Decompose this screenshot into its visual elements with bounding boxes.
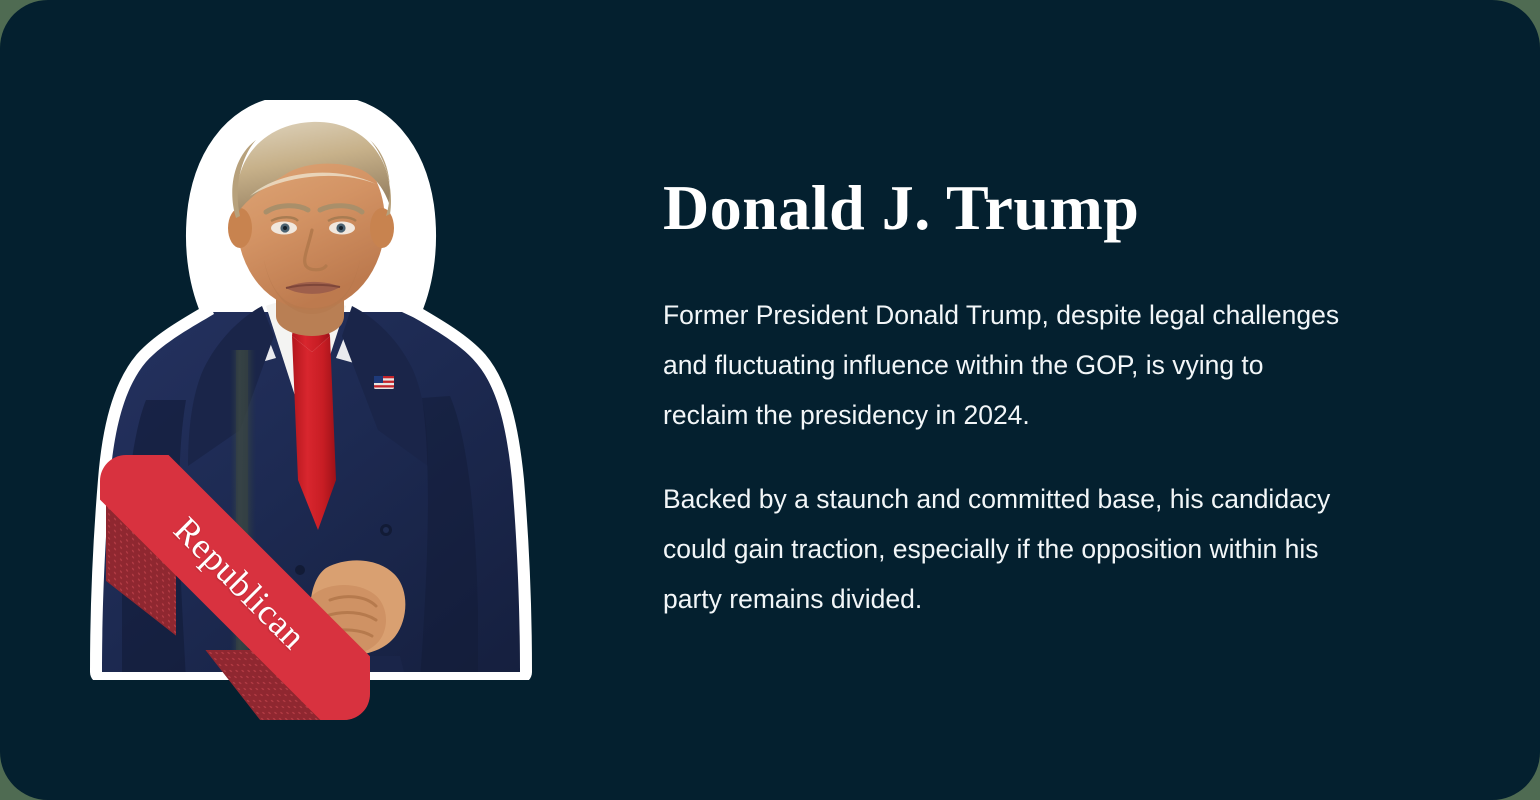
bio-paragraph-2: Backed by a staunch and committed base, … [663,474,1353,624]
candidate-profile-card: Republican Donald J. Trump Former Presid… [0,0,1540,800]
candidate-name: Donald J. Trump [663,170,1453,246]
candidate-portrait-icon [90,100,560,680]
portrait-area: Republican [90,100,560,690]
candidate-content: Donald J. Trump Former President Donald … [663,170,1453,624]
bio-paragraph-1: Former President Donald Trump, despite l… [663,290,1353,440]
